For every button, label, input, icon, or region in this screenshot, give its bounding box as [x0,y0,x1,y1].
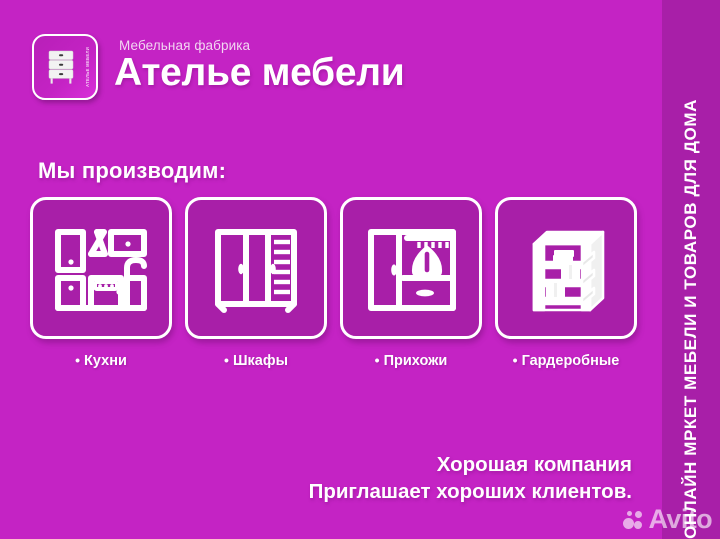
product-label-text: Кухни [84,353,127,369]
product-card-kitchen-tile[interactable] [30,197,172,339]
title-block: Мебельная фабрика Ателье мебели [114,34,404,93]
bullet-icon: • [75,352,80,368]
side-strip-text: ОНЛАЙН МРКЕТ МЕБЕЛИ И ТОВАРОВ ДЛЯ ДОМА [662,73,720,539]
logo-badge: АТЕЛЬЕ МЕБЕЛИ [32,34,98,100]
promo-banner: ОНЛАЙН МРКЕТ МЕБЕЛИ И ТОВАРОВ ДЛЯ ДОМА А… [0,0,720,539]
page-title: Ателье мебели [114,52,404,93]
header: АТЕЛЬЕ МЕБЕЛИ Мебельная фабрика Ателье м… [32,34,404,100]
logo-badge-vertical-text: АТЕЛЬЕ МЕБЕЛИ [83,41,92,93]
product-card-hallway-tile[interactable] [340,197,482,339]
avito-logo-icon [623,508,647,532]
product-label-text: Прихожи [384,353,448,369]
product-label-text: Шкафы [233,353,288,369]
hallway-icon [359,216,463,320]
product-card-kitchen[interactable]: • Кухни [30,197,172,369]
dresser-icon [46,49,76,85]
product-card-hallway[interactable]: • Прихожи [340,197,482,369]
product-card-wardrobe-label: • Шкафы [224,352,288,369]
tagline-line-2: Приглашает хороших клиентов. [309,478,632,505]
product-card-wardrobe-tile[interactable] [185,197,327,339]
tagline-line-1: Хорошая компания [309,451,632,478]
bullet-icon: • [224,352,229,368]
bullet-icon: • [375,352,380,368]
side-strip: ОНЛАЙН МРКЕТ МЕБЕЛИ И ТОВАРОВ ДЛЯ ДОМА [662,0,720,539]
product-label-text: Гардеробные [522,353,620,369]
tagline: Хорошая компания Приглашает хороших клие… [309,451,632,505]
section-heading: Мы производим: [38,158,226,184]
product-card-hallway-label: • Прихожи [375,352,448,369]
product-card-kitchen-label: • Кухни [75,352,127,369]
kitchen-icon [49,216,153,320]
product-card-shelving[interactable]: • Гардеробные [495,197,637,369]
bullet-icon: • [513,352,518,368]
product-card-shelving-label: • Гардеробные [513,352,620,369]
shelving-icon [514,216,618,320]
product-cards-row: • Кухни [30,197,637,369]
wardrobe-icon [204,216,308,320]
product-card-wardrobe[interactable]: • Шкафы [185,197,327,369]
product-card-shelving-tile[interactable] [495,197,637,339]
